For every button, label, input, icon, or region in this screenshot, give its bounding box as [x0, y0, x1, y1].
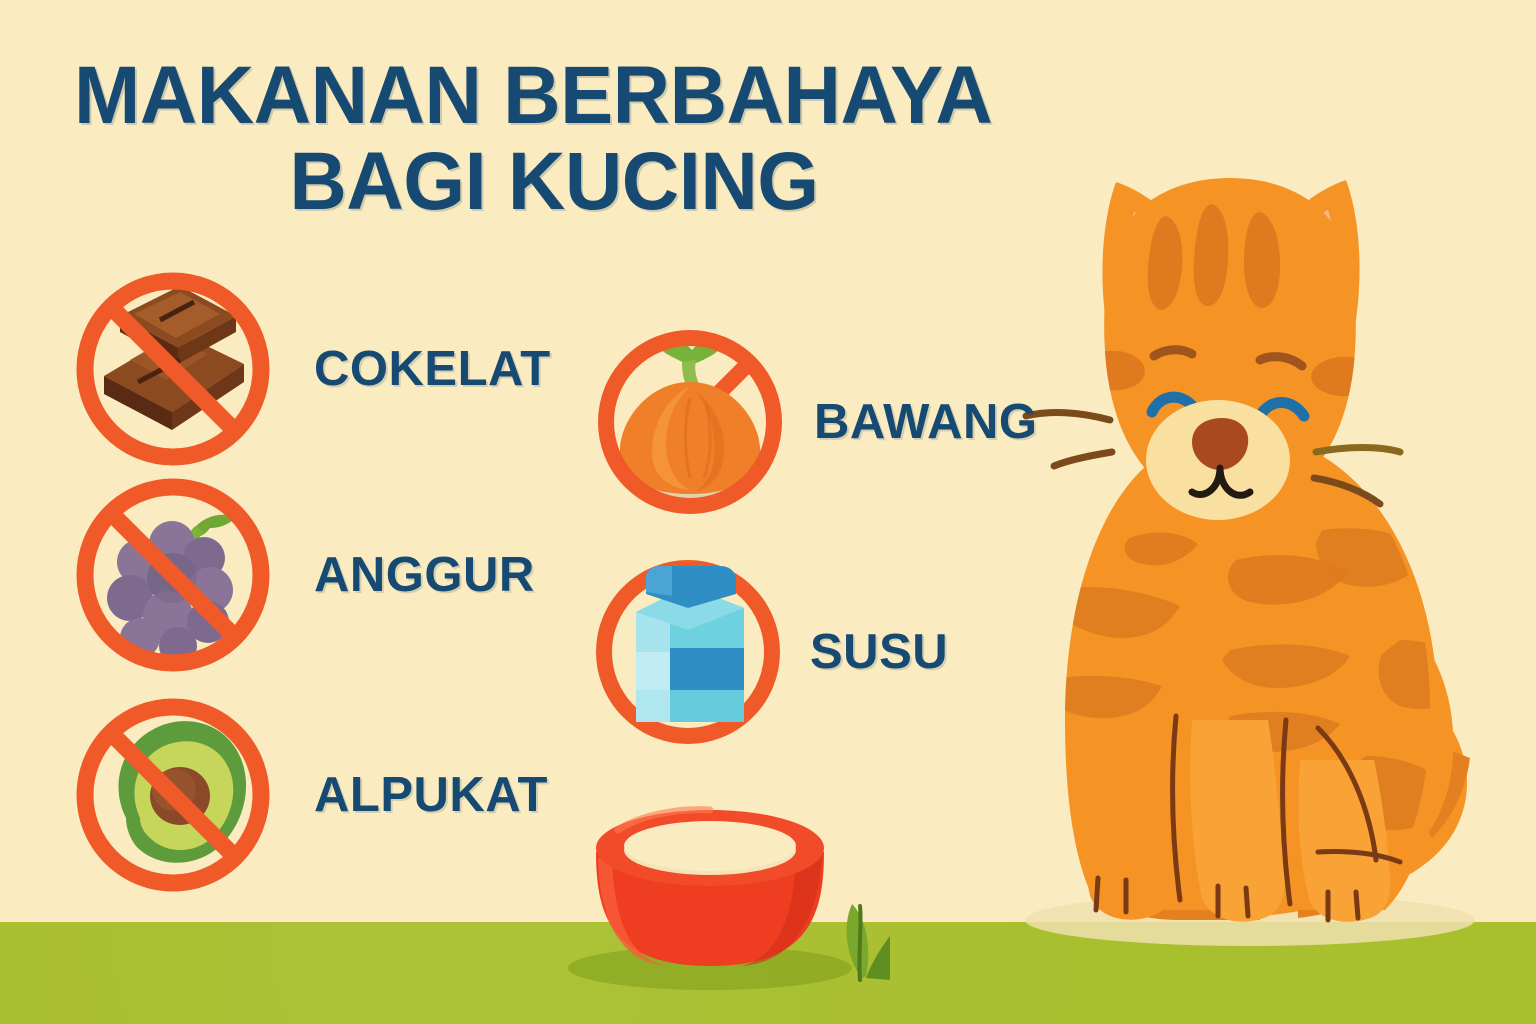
- cat-illustration: [930, 120, 1536, 950]
- item-label-alpukat: ALPUKAT: [314, 771, 548, 820]
- prohibition-badge-susu: [588, 552, 788, 752]
- danger-item-susu[interactable]: SUSU: [588, 552, 948, 752]
- prohibition-badge-cokelat: [68, 264, 278, 474]
- prohibition-badge-anggur: [68, 470, 278, 680]
- infographic-poster: MAKANAN BERBAHAYA BAGI KUCING: [0, 0, 1536, 1024]
- item-label-bawang: BAWANG: [814, 398, 1038, 447]
- item-label-cokelat: COKELAT: [314, 345, 551, 394]
- item-label-susu: SUSU: [810, 628, 948, 677]
- danger-item-cokelat[interactable]: COKELAT: [68, 264, 551, 474]
- pet-bowl-illustration: [560, 800, 890, 1000]
- milk-carton-icon: [636, 566, 744, 722]
- item-label-anggur: ANGGUR: [314, 551, 535, 600]
- page-title: MAKANAN BERBAHAYA BAGI KUCING: [74, 56, 1063, 223]
- title-line-1: MAKANAN BERBAHAYA: [74, 56, 1063, 136]
- prohibition-badge-bawang: [590, 322, 790, 522]
- prohibition-badge-alpukat: [68, 690, 278, 900]
- danger-item-anggur[interactable]: ANGGUR: [68, 470, 535, 680]
- danger-item-alpukat[interactable]: ALPUKAT: [68, 690, 548, 900]
- danger-item-bawang[interactable]: BAWANG: [590, 322, 1038, 522]
- grass-tuft-plant: [847, 904, 890, 980]
